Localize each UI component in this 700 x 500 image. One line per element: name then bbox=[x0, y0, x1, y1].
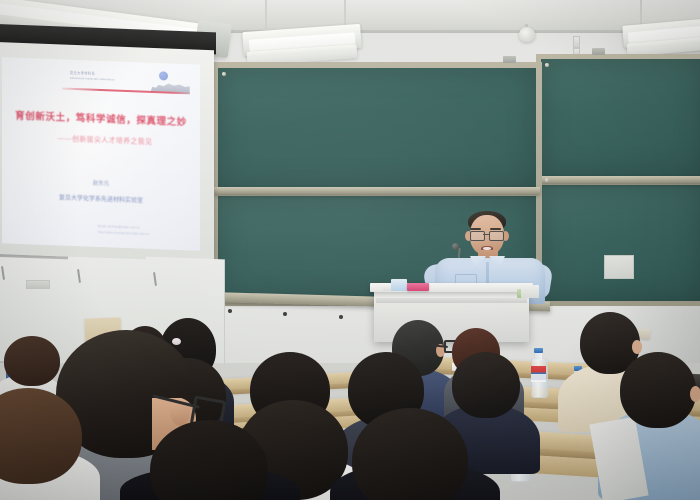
light-switch-panel[interactable] bbox=[573, 36, 580, 48]
lecture-hall-photo: 复旦大学材料系 advanced-materials-laboratory 育创… bbox=[0, 0, 700, 500]
water-bottle bbox=[531, 348, 546, 396]
presentation-slide: 复旦大学材料系 advanced-materials-laboratory 育创… bbox=[2, 57, 200, 251]
podium-tissue-box bbox=[521, 285, 539, 298]
blackboard-rail-center bbox=[214, 187, 540, 194]
glasses-bridge bbox=[483, 234, 489, 235]
projector-screen: 复旦大学材料系 advanced-materials-laboratory 育创… bbox=[0, 28, 216, 263]
light-rod bbox=[265, 0, 267, 30]
chalk-rail-hook bbox=[228, 309, 232, 313]
podium-pink-folder bbox=[407, 283, 429, 291]
microphone-head bbox=[452, 243, 459, 250]
blackboard-screw bbox=[545, 63, 549, 67]
university-emblem-icon bbox=[159, 71, 168, 80]
podium-lip bbox=[376, 298, 527, 303]
blackboard-right-upper bbox=[541, 59, 700, 177]
bottle-label-band bbox=[531, 374, 546, 382]
audience-ear bbox=[632, 340, 642, 354]
glasses-lens-left-icon bbox=[470, 231, 485, 241]
audience-head bbox=[452, 352, 520, 418]
wall-utility-box bbox=[604, 255, 634, 279]
hair-clip bbox=[172, 338, 181, 345]
slide-org-line2: advanced-materials-laboratory bbox=[70, 76, 115, 82]
blackboard-mount-tab bbox=[592, 48, 605, 55]
blackboard-center-upper bbox=[218, 68, 536, 188]
chalk-rail-hook bbox=[339, 315, 343, 319]
audience-ear bbox=[690, 386, 700, 402]
speaker-eyebrow-right bbox=[490, 228, 501, 230]
audience-head bbox=[620, 352, 696, 428]
blackboard-screw bbox=[222, 72, 226, 76]
wall-panel-plate bbox=[26, 280, 50, 289]
slide-org-line1: 复旦大学材料系 bbox=[70, 70, 95, 76]
glasses-lens-right-icon bbox=[489, 231, 504, 241]
blackboard-right-lower bbox=[541, 185, 700, 301]
bottle-cap bbox=[534, 348, 542, 353]
blackboard-screw bbox=[545, 178, 549, 182]
wall-fan bbox=[519, 27, 535, 42]
podium-blue-box bbox=[391, 279, 407, 291]
blackboard-mount-tab bbox=[503, 56, 516, 63]
chalk-rail-hook bbox=[283, 312, 287, 316]
audience-head bbox=[4, 336, 60, 386]
blackboard-rail-right bbox=[538, 176, 700, 183]
light-rod bbox=[344, 0, 346, 26]
speaker-eyebrow-left bbox=[470, 228, 481, 230]
light-rod bbox=[640, 0, 642, 24]
